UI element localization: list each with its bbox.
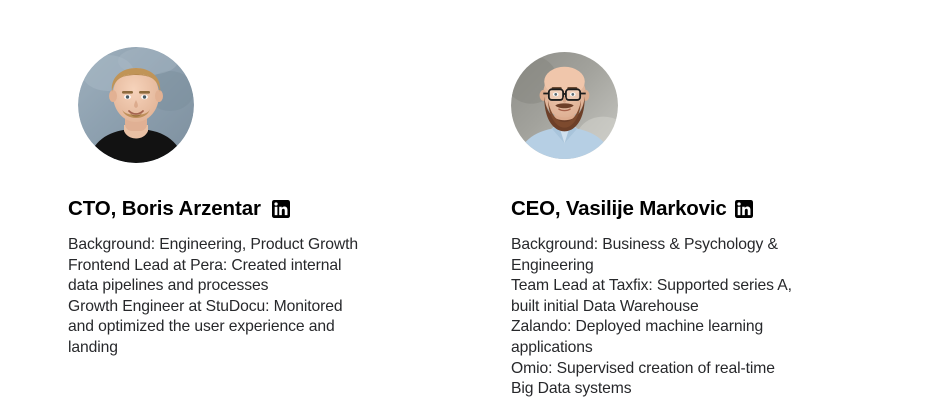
profile-card-boris-arzentar: CTO, Boris Arzentar Background: Engineer… <box>68 0 468 412</box>
bio-line: and optimized the user experience and <box>68 317 413 338</box>
linkedin-icon[interactable] <box>735 200 753 218</box>
team-profiles-section: CTO, Boris Arzentar Background: Engineer… <box>0 0 948 412</box>
avatar-photo-boris-arzentar <box>78 47 194 163</box>
bio-line: Team Lead at Taxfix: Supported series A, <box>511 276 861 297</box>
profile-bio-boris-arzentar: Background: Engineering, Product Growth … <box>68 235 413 359</box>
bio-line: Growth Engineer at StuDocu: Monitored <box>68 297 413 318</box>
linkedin-icon[interactable] <box>272 200 290 218</box>
bio-line: landing <box>68 338 413 359</box>
bio-line: Background: Engineering, Product Growth <box>68 235 413 256</box>
bio-line: data pipelines and processes <box>68 276 413 297</box>
bio-line: Zalando: Deployed machine learning <box>511 317 861 338</box>
bio-line: Engineering <box>511 256 861 277</box>
bio-line: applications <box>511 338 861 359</box>
profile-bio-vasilije-markovic: Background: Business & Psychology & Engi… <box>511 235 861 400</box>
bio-line: built initial Data Warehouse <box>511 297 861 318</box>
bio-line: Big Data systems <box>511 379 861 400</box>
bio-line: Frontend Lead at Pera: Created internal <box>68 256 413 277</box>
profile-name-boris-arzentar: CTO, Boris Arzentar <box>68 196 261 222</box>
profile-card-vasilije-markovic: CEO, Vasilije Markovic Background: Busin… <box>511 0 911 412</box>
profile-headline-boris-arzentar: CTO, Boris Arzentar <box>68 196 290 222</box>
profile-headline-vasilije-markovic: CEO, Vasilije Markovic <box>511 196 753 222</box>
bio-line: Background: Business & Psychology & <box>511 235 861 256</box>
avatar-photo-vasilije-markovic <box>511 47 618 164</box>
profile-name-vasilije-markovic: CEO, Vasilije Markovic <box>511 196 727 222</box>
bio-line: Omio: Supervised creation of real-time <box>511 359 861 380</box>
